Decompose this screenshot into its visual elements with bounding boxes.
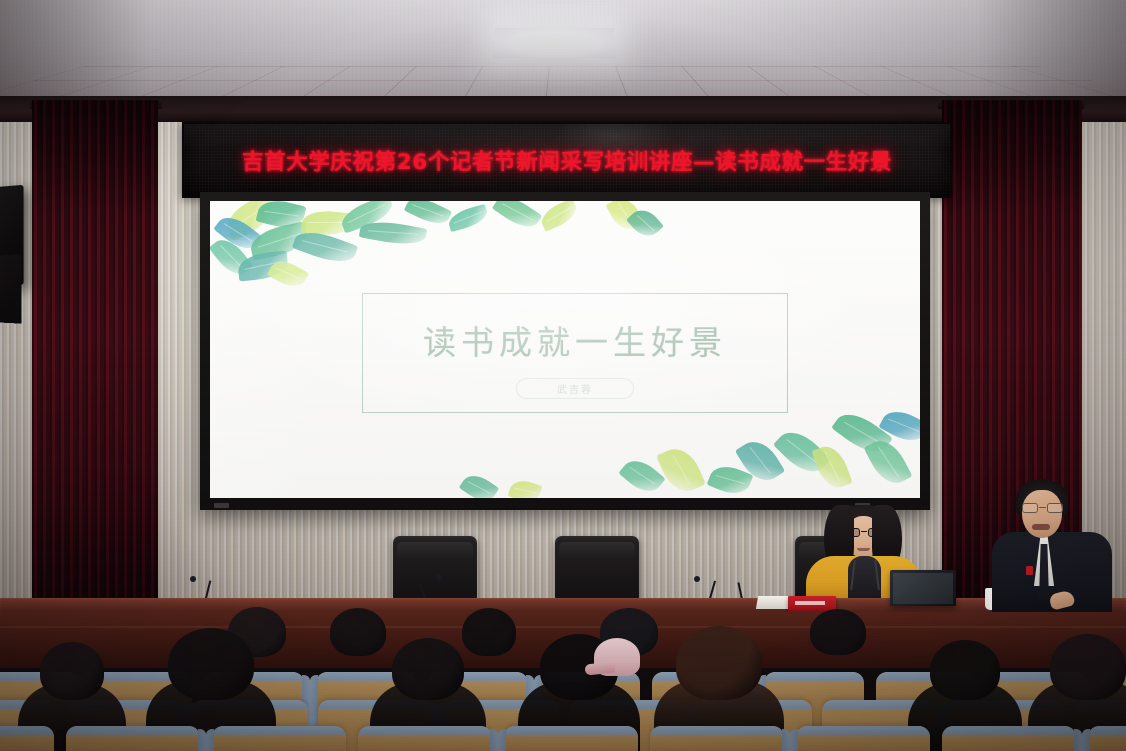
microphone-head-2 [436,574,442,580]
audience-head-front-1 [168,628,254,700]
screen-bezel-nub-left [214,503,229,508]
audience-seat-26 [650,726,784,751]
audience-head-back-4 [810,609,866,655]
standing-speaker-lapel-badge [1026,566,1033,575]
slide-title: 读书成就一生好景 [363,316,787,364]
stage-chair-center [555,536,639,600]
audience-head-front-4 [676,626,762,700]
audience-seat-27 [796,726,930,751]
table-papers [756,596,792,609]
slide-presenter-pill: 武吉蓉 [516,378,634,399]
standing-speaker-face [1022,490,1062,538]
audience-seat-23 [212,726,346,751]
ceiling [0,0,1126,104]
leaf-bottom-right-5 [811,442,852,493]
audience-head-front-0 [40,642,104,700]
led-banner: 吉首大学庆祝第26个记者节新闻采写培训讲座—读书成就一生好景 [182,122,952,198]
leaf-bottom-right-9 [459,469,499,498]
glasses-bridge [861,531,867,532]
ceiling-shading [0,0,1126,104]
led-banner-text: 吉首大学庆祝第26个记者节新闻采写培训讲座—读书成就一生好景 [242,145,892,176]
audience-seat-22 [66,726,200,751]
audience-seat-25 [504,726,638,751]
leaf-top-left-12 [446,204,489,232]
slide-title-frame: 读书成就一生好景 武吉蓉 [362,293,788,413]
microphone-head-4 [694,576,700,582]
audience-seat-24 [358,726,492,751]
audience-head-front-6 [1050,634,1126,700]
laptop-screen [893,573,953,604]
audience-seat-21 [0,726,54,751]
stage-chair-left [393,536,477,600]
glasses-bridge [1039,507,1046,508]
leaf-top-left-13 [492,201,542,234]
lecture-hall-photo: 吉首大学庆祝第26个记者节新闻采写培训讲座—读书成就一生好景 读书成就一生好景 … [0,0,1126,751]
standing-speaker-mouth [1032,524,1050,530]
table-laptop [890,570,956,606]
projection-screen-frame: 读书成就一生好景 武吉蓉 [200,192,930,510]
curtain-left [32,100,158,620]
ceiling-left-shadow [0,0,150,104]
ceiling-right-shadow [976,0,1126,104]
microphone-head-1 [190,576,196,582]
standing-speaker-glasses [1021,503,1064,513]
audience-head-front-2 [392,638,464,700]
pink-baseball-cap [594,638,640,676]
wall-mounted-speaker-lower [0,254,22,323]
glasses-lens-left [1022,503,1038,513]
glasses-lens-right [1047,503,1063,513]
audience-seat-28 [942,726,1076,751]
seated-speaker-mouth [857,548,870,551]
leaf-bottom-right-10 [508,477,543,498]
audience-head-back-1 [330,608,386,656]
leaf-bottom-right-1 [656,442,706,498]
audience-seat-29 [1088,726,1126,751]
leaf-top-left-14 [538,201,581,232]
audience-head-back-2 [462,608,516,656]
audience-head-front-5 [930,640,1000,700]
projection-screen: 读书成就一生好景 武吉蓉 [210,201,920,498]
